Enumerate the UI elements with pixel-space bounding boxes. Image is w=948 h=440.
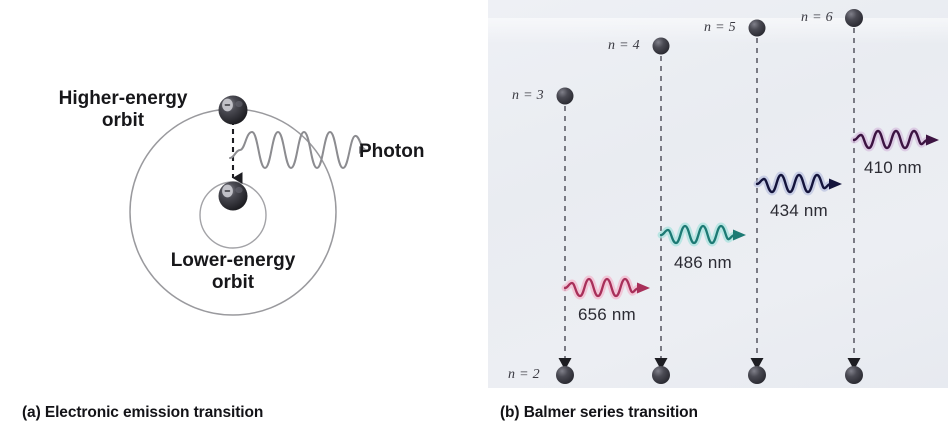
level-dot-n3 (557, 88, 574, 105)
level-dot-n5 (749, 20, 766, 37)
panel-a-caption: (a) Electronic emission transition (22, 404, 263, 422)
emission-wave-656nm (565, 279, 650, 296)
wavelength-label-486nm: 486 nm (674, 253, 732, 273)
figure-root: Higher-energy orbit Lower-energy orbit P… (0, 0, 948, 440)
wavelength-label-656nm: 656 nm (578, 305, 636, 325)
balmer-ground-dots (556, 366, 863, 384)
emission-wave-434nm (757, 175, 842, 192)
electron-higher-orbit (219, 96, 248, 125)
level-label-n5: n = 5 (704, 20, 736, 37)
higher-energy-orbit-label-line1: Higher-energy (48, 88, 198, 110)
level-label-n4: n = 4 (608, 38, 640, 55)
wavelength-label-434nm: 434 nm (770, 201, 828, 221)
lower-energy-orbit-label: Lower-energy orbit (158, 250, 308, 295)
level-dot-n6 (845, 9, 863, 27)
level-label-n3: n = 3 (512, 88, 544, 105)
level-label-n2: n = 2 (508, 367, 540, 384)
photon-label: Photon (359, 141, 424, 163)
lower-energy-orbit-label-line1: Lower-energy (158, 250, 308, 272)
balmer-transition-arrowheads (559, 358, 861, 370)
level-dot-n4 (653, 38, 670, 55)
higher-energy-orbit-label: Higher-energy orbit (48, 88, 198, 133)
electron-lower-orbit (219, 182, 248, 211)
emission-wave-410nm (854, 131, 939, 148)
lower-energy-orbit-label-line2: orbit (158, 272, 308, 294)
wavelength-label-410nm: 410 nm (864, 158, 922, 178)
photon-wave (230, 132, 366, 168)
panel-b-caption: (b) Balmer series transition (500, 404, 698, 422)
emission-wave-486nm (661, 226, 746, 243)
level-label-n6: n = 6 (801, 10, 833, 27)
higher-energy-orbit-label-line2: orbit (48, 110, 198, 132)
